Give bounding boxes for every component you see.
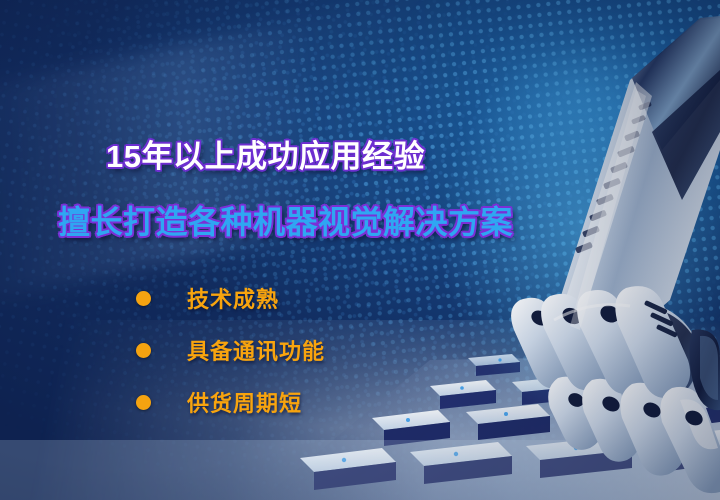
orange-dot-icon: [136, 343, 151, 358]
list-item: 技术成熟: [136, 272, 325, 324]
feature-label: 具备通讯功能: [187, 334, 325, 366]
orange-dot-icon: [136, 291, 151, 306]
headline-secondary: 擅长打造各种机器视觉解决方案: [58, 197, 513, 243]
orange-dot-icon: [136, 395, 151, 410]
banner-copy: 15年以上成功应用经验 擅长打造各种机器视觉解决方案 技术成熟 具备通讯功能 供…: [0, 0, 520, 500]
headline-primary: 15年以上成功应用经验: [106, 131, 425, 176]
feature-list: 技术成熟 具备通讯功能 供货周期短: [136, 272, 325, 428]
list-item: 供货周期短: [136, 376, 325, 428]
feature-label: 供货周期短: [187, 386, 302, 418]
list-item: 具备通讯功能: [136, 324, 325, 376]
promo-banner: 15年以上成功应用经验 擅长打造各种机器视觉解决方案 技术成熟 具备通讯功能 供…: [0, 0, 720, 500]
feature-label: 技术成熟: [187, 282, 279, 314]
